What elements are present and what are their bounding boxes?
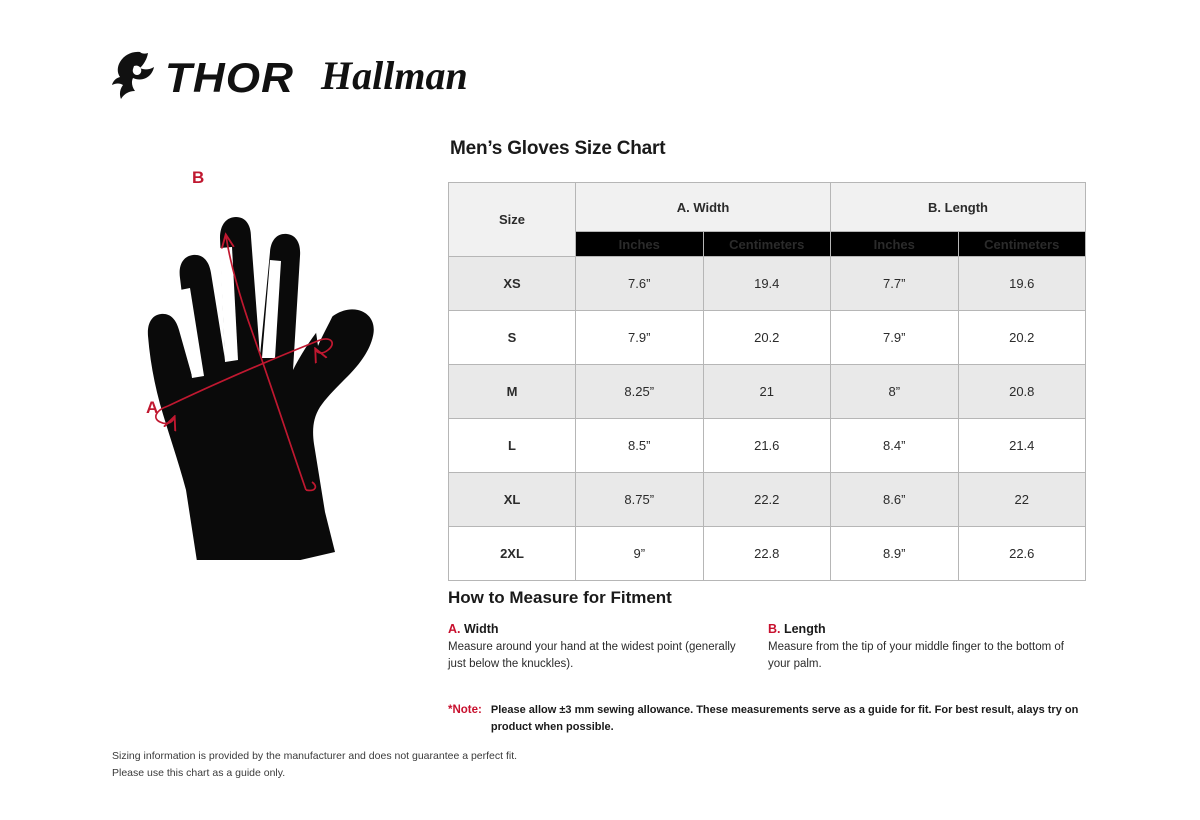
size-chart-panel: Men’s Gloves Size Chart Size A. Width B.…: [448, 138, 1088, 581]
measure-name-length: Length: [781, 622, 826, 636]
cell-size: 2XL: [449, 527, 576, 581]
cell-width-centimeters: 22.2: [703, 473, 831, 527]
footer-line-2: Please use this chart as a guide only.: [112, 765, 517, 782]
cell-length-centimeters: 22: [958, 473, 1086, 527]
measure-item-length: B. Length Measure from the tip of your m…: [768, 622, 1088, 672]
cell-width-centimeters: 21: [703, 365, 831, 419]
cell-width-inches: 9”: [576, 527, 704, 581]
cell-length-centimeters: 21.4: [958, 419, 1086, 473]
cell-width-inches: 8.75”: [576, 473, 704, 527]
cell-length-inches: 7.7”: [831, 257, 959, 311]
page-title: Men’s Gloves Size Chart: [450, 138, 1088, 160]
column-header-length-inches: Inches: [831, 232, 959, 257]
brand-logo-bar: THOR Hallman: [110, 48, 468, 108]
column-group-width: A. Width: [576, 183, 831, 232]
cell-width-centimeters: 21.6: [703, 419, 831, 473]
table-row: 2XL 9” 22.8 8.9” 22.6: [449, 527, 1086, 581]
thor-helmet-icon: [110, 50, 166, 107]
cell-width-inches: 7.9”: [576, 311, 704, 365]
column-header-size: Size: [449, 183, 576, 257]
column-header-length-centimeters: Centimeters: [958, 232, 1086, 257]
hallman-logo: Hallman: [321, 56, 468, 96]
thor-wordmark: THOR: [165, 57, 294, 99]
measure-letter-a: A.: [448, 622, 461, 636]
table-row: S 7.9” 20.2 7.9” 20.2: [449, 311, 1086, 365]
measure-letter-b: B.: [768, 622, 781, 636]
measure-item-width-heading: A. Width: [448, 622, 746, 636]
note-text: Please allow ±3 mm sewing allowance. The…: [491, 702, 1088, 735]
footer-disclaimer: Sizing information is provided by the ma…: [112, 748, 517, 783]
footer-line-1: Sizing information is provided by the ma…: [112, 748, 517, 765]
cell-width-centimeters: 22.8: [703, 527, 831, 581]
column-group-length: B. Length: [831, 183, 1086, 232]
hand-silhouette: [148, 217, 374, 560]
how-to-measure-columns: A. Width Measure around your hand at the…: [448, 622, 1088, 672]
cell-size: XS: [449, 257, 576, 311]
cell-length-inches: 8.4”: [831, 419, 959, 473]
table-body: XS 7.6” 19.4 7.7” 19.6 S 7.9” 20.2 7.9” …: [449, 257, 1086, 581]
cell-length-inches: 8”: [831, 365, 959, 419]
table-row: XL 8.75” 22.2 8.6” 22: [449, 473, 1086, 527]
measure-item-width-text: Measure around your hand at the widest p…: [448, 639, 746, 672]
cell-length-inches: 7.9”: [831, 311, 959, 365]
measure-name-width: Width: [461, 622, 499, 636]
cell-length-centimeters: 20.2: [958, 311, 1086, 365]
measure-item-length-text: Measure from the tip of your middle fing…: [768, 639, 1066, 672]
column-header-width-inches: Inches: [576, 232, 704, 257]
size-chart-table: Size A. Width B. Length Inches Centimete…: [448, 182, 1086, 581]
cell-length-centimeters: 19.6: [958, 257, 1086, 311]
note-label: *Note:: [448, 702, 482, 735]
cell-size: M: [449, 365, 576, 419]
cell-size: XL: [449, 473, 576, 527]
how-to-measure-title: How to Measure for Fitment: [448, 588, 1088, 608]
cell-width-inches: 8.5”: [576, 419, 704, 473]
cell-size: S: [449, 311, 576, 365]
cell-width-centimeters: 20.2: [703, 311, 831, 365]
measure-item-length-heading: B. Length: [768, 622, 1066, 636]
table-head-row-groups: Size A. Width B. Length: [449, 183, 1086, 232]
diagram-label-b: B: [192, 168, 204, 188]
cell-length-inches: 8.9”: [831, 527, 959, 581]
cell-width-centimeters: 19.4: [703, 257, 831, 311]
table-head: Size A. Width B. Length Inches Centimete…: [449, 183, 1086, 257]
diagram-label-a: A: [146, 398, 158, 418]
cell-length-centimeters: 22.6: [958, 527, 1086, 581]
table-row: M 8.25” 21 8” 20.8: [449, 365, 1086, 419]
cell-width-inches: 7.6”: [576, 257, 704, 311]
cell-length-centimeters: 20.8: [958, 365, 1086, 419]
table-row: L 8.5” 21.6 8.4” 21.4: [449, 419, 1086, 473]
measure-item-width: A. Width Measure around your hand at the…: [448, 622, 768, 672]
cell-size: L: [449, 419, 576, 473]
how-to-measure-section: How to Measure for Fitment A. Width Meas…: [448, 588, 1088, 672]
cell-length-inches: 8.6”: [831, 473, 959, 527]
note-row: *Note: Please allow ±3 mm sewing allowan…: [448, 702, 1088, 735]
column-header-width-centimeters: Centimeters: [703, 232, 831, 257]
table-row: XS 7.6” 19.4 7.7” 19.6: [449, 257, 1086, 311]
cell-width-inches: 8.25”: [576, 365, 704, 419]
thor-logo: THOR: [110, 50, 291, 107]
hand-measurement-diagram: A B: [120, 160, 440, 560]
